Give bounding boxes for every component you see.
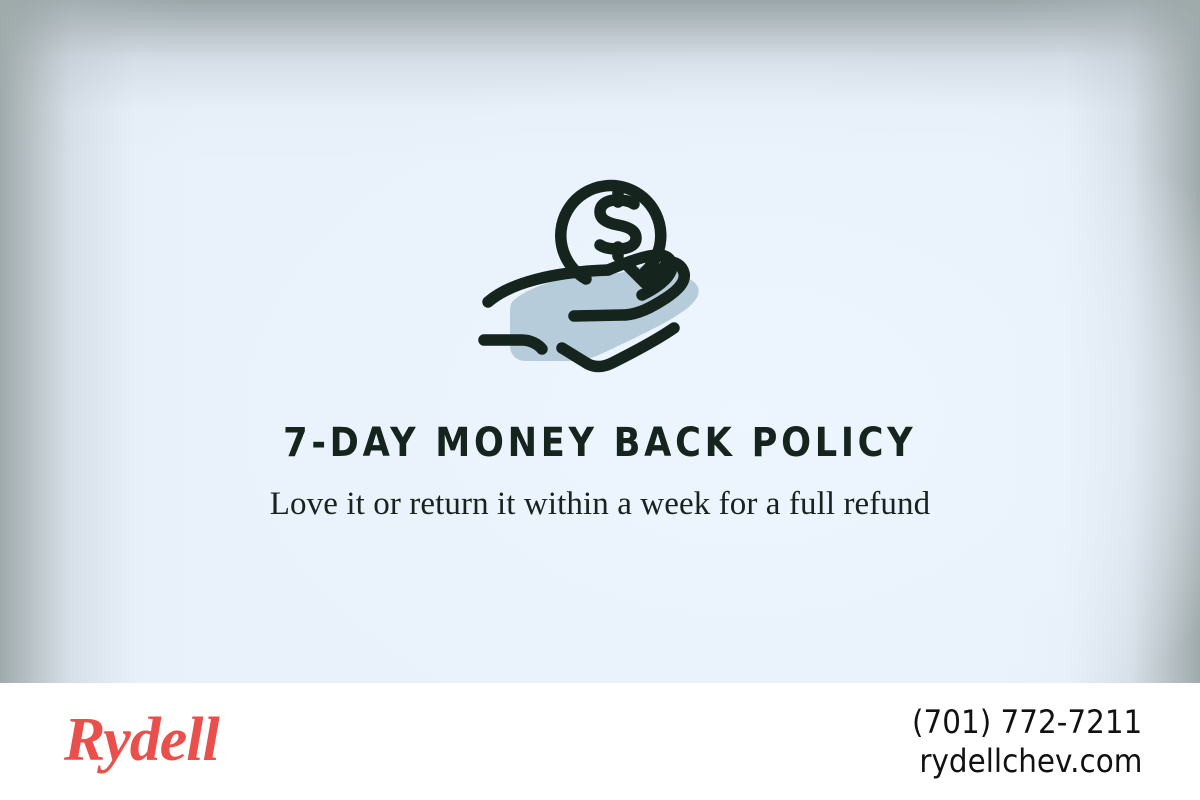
banner-content: 7-DAY MONEY BACK POLICY Love it or retur… <box>0 0 1200 683</box>
money-back-hand-icon <box>470 152 730 384</box>
promo-banner: 7-DAY MONEY BACK POLICY Love it or retur… <box>0 0 1200 800</box>
phone-number[interactable]: (701) 772-7211 <box>912 704 1142 741</box>
contact-info: (701) 772-7211 rydellchev.com <box>892 704 1142 780</box>
website-url[interactable]: rydellchev.com <box>919 743 1142 780</box>
page-title: 7-DAY MONEY BACK POLICY <box>283 422 916 464</box>
subtitle-text: Love it or return it within a week for a… <box>260 482 940 526</box>
footer-bar: Rydell (701) 772-7211 rydellchev.com <box>0 683 1200 800</box>
rydell-logo[interactable]: Rydell <box>64 709 219 771</box>
